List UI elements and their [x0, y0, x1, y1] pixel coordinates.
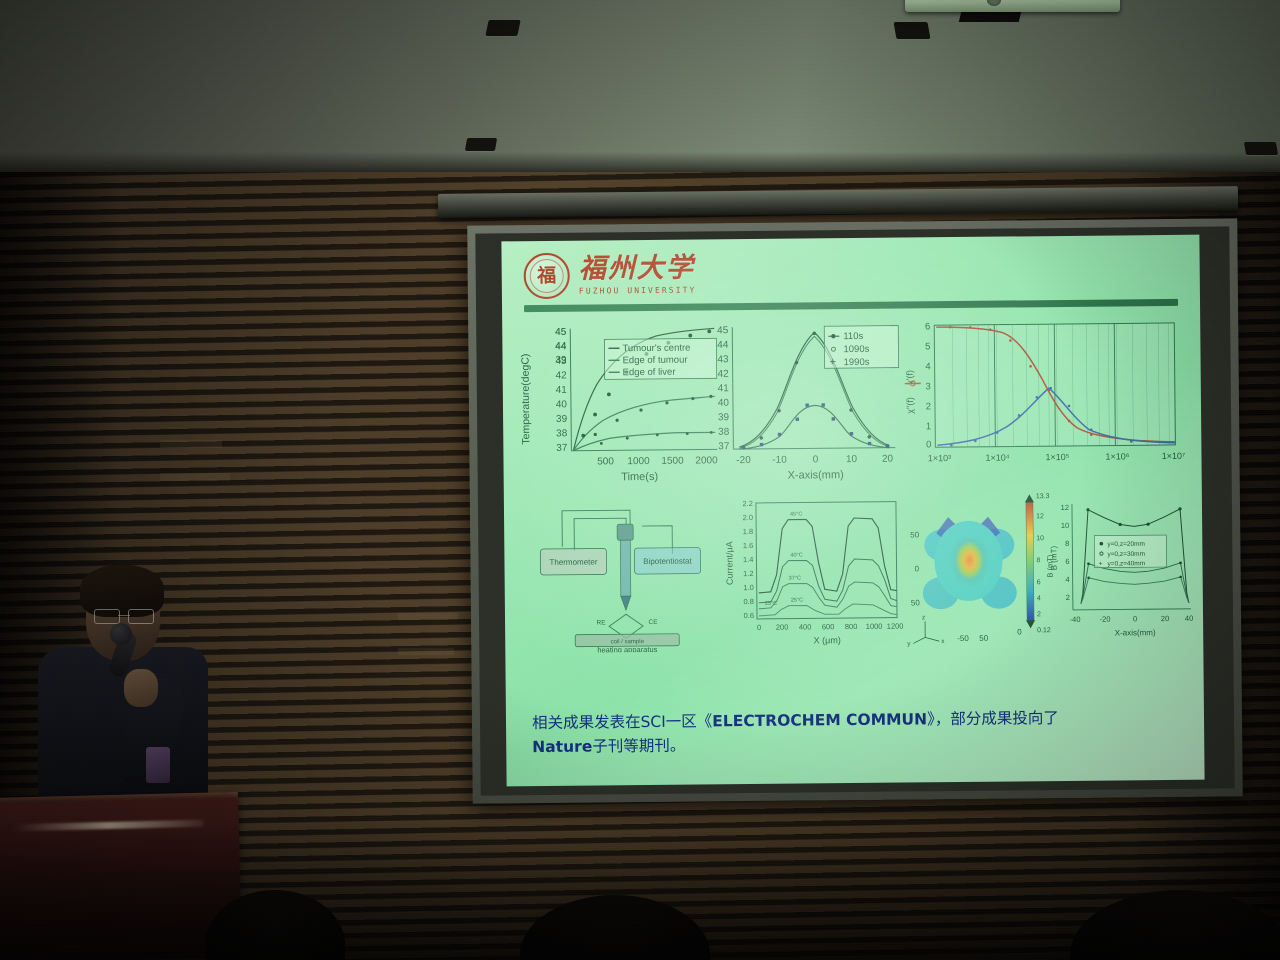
svg-text:45: 45 — [717, 325, 729, 336]
legend-item: y=0,z=30mm — [1107, 551, 1145, 558]
seal-character: 福 — [537, 266, 556, 285]
wall-panel-detail — [160, 440, 222, 448]
svg-text:39: 39 — [718, 412, 730, 423]
svg-text:x: x — [941, 638, 945, 645]
svg-text:39: 39 — [556, 414, 568, 425]
svg-text:6: 6 — [1065, 557, 1069, 566]
svg-text:1×10³: 1×10³ — [928, 453, 951, 463]
slide-caption: 相关成果发表在SCI一区《ELECTROCHEM COMMUN》，部分成果投向了… — [532, 705, 1182, 759]
legend-item: 1090s — [843, 344, 869, 355]
svg-text:Temperature(degC): Temperature(degC) — [519, 354, 532, 445]
svg-text:45: 45 — [555, 327, 567, 338]
svg-text:3: 3 — [925, 381, 930, 392]
svg-text:0.6: 0.6 — [744, 611, 755, 620]
svg-text:z: z — [922, 614, 925, 621]
svg-text:44: 44 — [717, 340, 729, 351]
svg-text:1.2: 1.2 — [743, 569, 754, 578]
svg-text:+: + — [830, 356, 837, 368]
svg-text:600: 600 — [822, 622, 835, 631]
diagram-heating-apparatus: Thermometer Bipotentiostat RE CE coil / … — [522, 501, 715, 658]
svg-text:-20: -20 — [736, 455, 751, 466]
caption-journal-name: ELECTROCHEM COMMUN — [712, 710, 927, 730]
glasses-icon — [94, 609, 154, 622]
svg-text:1000: 1000 — [866, 622, 883, 631]
wall-panel-detail — [398, 613, 458, 620]
legend-item: y=0,z=40mm — [1107, 560, 1145, 567]
svg-text:42: 42 — [556, 370, 568, 381]
svg-text:1500: 1500 — [661, 456, 684, 467]
chart-temperature-vs-x: 454443 424140 393837 -20-100 1020 X-axis… — [698, 320, 905, 495]
legend-item: y=0,z=20mm — [1107, 541, 1145, 548]
svg-text:500: 500 — [597, 456, 614, 467]
svg-text:0: 0 — [1017, 627, 1022, 636]
projector-mount — [959, 12, 1021, 22]
svg-text:43: 43 — [717, 354, 729, 365]
svg-text:200: 200 — [776, 623, 789, 632]
svg-text:-40: -40 — [1070, 615, 1081, 624]
svg-text:Current/μA: Current/μA — [724, 541, 734, 585]
inline-label: 45°C — [790, 512, 802, 518]
diagram-label: Bipotentiostat — [643, 557, 692, 566]
caption-text-tail: 子刊等期刊。 — [592, 737, 685, 756]
chart-susceptibility-vs-frequency: 654 321 0 1×10³1×10⁴1×10⁵ 1×10⁶1×10⁷ — [890, 317, 1192, 493]
chart-magnetic-field-profile: B (mT) 12108 642 -40-200 2040 X-axis(mm) — [1048, 497, 1199, 653]
svg-text:400: 400 — [799, 622, 812, 631]
svg-text:1000: 1000 — [627, 456, 650, 467]
svg-text:0: 0 — [1133, 614, 1137, 623]
svg-text:0: 0 — [926, 439, 931, 450]
inline-label: 25°C — [765, 601, 777, 607]
inline-label: 37°C — [789, 576, 801, 582]
svg-text:800: 800 — [845, 622, 858, 631]
wall-panel-detail — [160, 473, 230, 481]
speaker-hand — [124, 669, 158, 707]
fuzhou-seal-icon: 福 — [524, 253, 570, 299]
diagram-label: heating apparatus — [597, 645, 657, 653]
projection-screen: 福 福州大学 FUZHOU UNIVERSITY Temperature(deg… — [467, 218, 1243, 803]
svg-text:B (mT): B (mT) — [1049, 545, 1058, 570]
svg-text:5: 5 — [925, 341, 930, 352]
legend-item: 110s — [843, 331, 863, 342]
svg-text:2.2: 2.2 — [742, 499, 753, 508]
svg-text:12: 12 — [1061, 503, 1069, 512]
svg-text:CE: CE — [649, 619, 659, 626]
brand-text: 福州大学 FUZHOU UNIVERSITY — [579, 255, 697, 295]
svg-text:50: 50 — [979, 634, 989, 643]
svg-text:1×10⁶: 1×10⁶ — [1105, 451, 1129, 461]
svg-text:6: 6 — [925, 321, 930, 332]
ceiling-fixture-icon — [894, 22, 931, 39]
svg-text:X-axis(mm): X-axis(mm) — [787, 469, 843, 482]
svg-text:-50: -50 — [957, 634, 969, 643]
svg-text:1.8: 1.8 — [743, 527, 754, 536]
svg-text:1×10⁷: 1×10⁷ — [1162, 451, 1186, 461]
svg-text:-10: -10 — [772, 455, 787, 466]
svg-text:X (μm): X (μm) — [814, 635, 841, 645]
svg-text:0: 0 — [813, 454, 819, 465]
svg-text:10: 10 — [846, 454, 858, 465]
svg-text:12: 12 — [1036, 513, 1044, 520]
svg-text:1×10⁴: 1×10⁴ — [985, 453, 1009, 463]
caption-nature-label: Nature — [532, 738, 592, 757]
svg-text:Time(s): Time(s) — [621, 471, 658, 483]
caption-text-post: 》，部分成果投向了 — [927, 709, 1059, 728]
svg-text:2: 2 — [1037, 611, 1041, 618]
legend-item: Tumour's centre — [622, 343, 690, 355]
ceiling-fixture-icon — [1244, 142, 1278, 155]
header-divider — [524, 299, 1178, 312]
svg-text:8: 8 — [1036, 557, 1040, 564]
svg-text:10: 10 — [1061, 521, 1069, 530]
chart-magnetic-field-3d: 50050 -50500 zyx — [904, 488, 1056, 659]
svg-text:40: 40 — [556, 399, 568, 410]
svg-text:4: 4 — [1065, 575, 1069, 584]
svg-text:38: 38 — [718, 427, 730, 438]
presentation-slide: 福 福州大学 FUZHOU UNIVERSITY Temperature(deg… — [501, 235, 1204, 787]
svg-text:44: 44 — [555, 341, 567, 352]
speaker — [28, 565, 218, 815]
svg-text:1200: 1200 — [887, 622, 904, 631]
speaker-badge — [146, 747, 170, 783]
legend-item: χ'(f) — [905, 370, 915, 385]
foreground-shadow — [0, 820, 1280, 960]
svg-text:y: y — [907, 640, 911, 647]
svg-text:20: 20 — [1161, 614, 1169, 623]
svg-text:0.8: 0.8 — [743, 597, 754, 606]
svg-text:50: 50 — [910, 530, 920, 539]
svg-text:2: 2 — [1066, 593, 1070, 602]
university-name-cn: 福州大学 — [579, 255, 697, 284]
svg-text:1×10⁵: 1×10⁵ — [1045, 452, 1069, 462]
university-name-en: FUZHOU UNIVERSITY — [579, 285, 697, 295]
lecture-hall-photo: 福 福州大学 FUZHOU UNIVERSITY Temperature(deg… — [0, 0, 1280, 960]
svg-text:40: 40 — [718, 398, 730, 409]
svg-text:2: 2 — [926, 401, 931, 412]
ceiling-fixture-icon — [465, 138, 497, 151]
svg-text:1: 1 — [926, 421, 931, 432]
legend-item: 1990s — [844, 357, 870, 368]
svg-text:8: 8 — [1065, 539, 1069, 548]
svg-text:4: 4 — [925, 361, 930, 372]
svg-text:6: 6 — [1037, 579, 1041, 586]
chart-current-vs-x: Current/μA 2.22.01.8 1.61.41.2 1.00.80.6… — [722, 496, 909, 658]
svg-text:0: 0 — [757, 623, 761, 632]
svg-text:50: 50 — [911, 598, 921, 607]
wall-panel-detail — [398, 648, 454, 655]
caption-text-pre: 相关成果发表在SCI一区《 — [532, 712, 712, 732]
microphone-head-icon — [110, 623, 132, 645]
svg-text:41: 41 — [556, 385, 568, 396]
projector-lens-icon — [987, 0, 1001, 6]
svg-text:42: 42 — [718, 369, 730, 380]
svg-text:-20: -20 — [1100, 615, 1111, 624]
diagram-label: Thermometer — [549, 557, 597, 566]
legend-item: Edge of liver — [623, 367, 676, 379]
svg-text:+: + — [1098, 561, 1102, 568]
ceiling-fixture-icon — [485, 20, 520, 36]
svg-text:37: 37 — [718, 441, 730, 452]
university-logo: 福 福州大学 FUZHOU UNIVERSITY — [524, 252, 697, 300]
ceiling — [0, 0, 1280, 178]
chart-temperature-vs-time: Temperature(degC) 454439 45 44 43 42 41 … — [516, 321, 728, 496]
svg-text:0: 0 — [915, 564, 920, 573]
svg-text:X-axis(mm): X-axis(mm) — [1115, 628, 1156, 637]
svg-text:1.0: 1.0 — [743, 583, 754, 592]
svg-text:RE: RE — [597, 619, 607, 626]
inline-label: 40°C — [790, 553, 802, 559]
legend-item: χ''(f) — [905, 397, 915, 414]
ceiling-projector — [905, 0, 1120, 12]
legend-item: Edge of tumour — [622, 355, 687, 367]
svg-text:1.4: 1.4 — [743, 555, 754, 564]
svg-text:4: 4 — [1037, 595, 1041, 602]
svg-text:40: 40 — [1185, 614, 1193, 623]
svg-text:1.6: 1.6 — [743, 541, 754, 550]
svg-text:38: 38 — [556, 428, 568, 439]
svg-text:43: 43 — [555, 356, 567, 367]
svg-text:37: 37 — [556, 443, 568, 454]
svg-text:10: 10 — [1036, 535, 1044, 542]
inline-label: 25°C — [791, 598, 803, 604]
svg-text:41: 41 — [718, 383, 730, 394]
svg-text:2.0: 2.0 — [743, 513, 754, 522]
